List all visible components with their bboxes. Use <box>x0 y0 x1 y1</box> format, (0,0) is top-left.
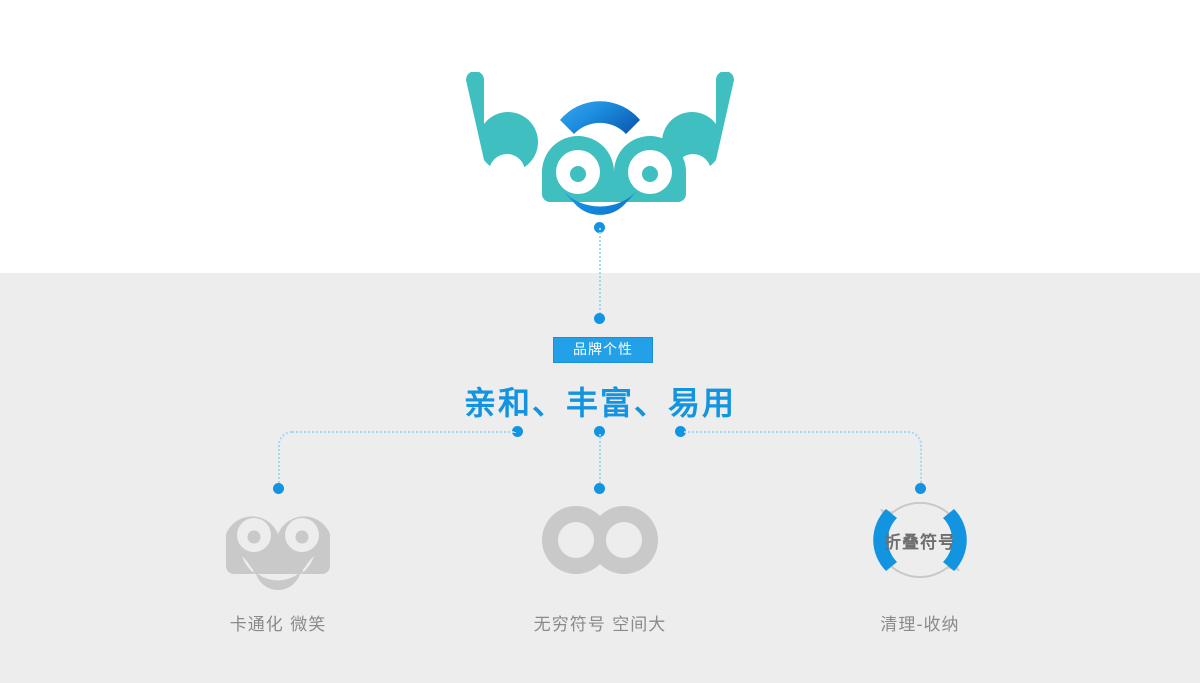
boad-logo-svg <box>460 72 740 217</box>
connector-left-elbow <box>278 431 516 487</box>
logo-letter-b-counter <box>489 154 525 190</box>
feature-infinity-space: 无穷符号 空间大 <box>480 490 720 635</box>
brand-personality-badge[interactable]: 品牌个性 <box>553 337 653 363</box>
logo-arc-top-icon <box>560 101 640 134</box>
logo-eye-right-pupil <box>642 166 658 182</box>
connector-right-elbow <box>684 431 922 487</box>
connector-logo-to-badge <box>599 228 601 318</box>
feature-3-art: 折叠符号 <box>800 490 1040 590</box>
face-smile-icon <box>218 490 338 590</box>
boad-logo <box>460 72 740 217</box>
page-title: 亲和、丰富、易用 <box>0 378 1200 424</box>
feature-2-caption: 无穷符号 空间大 <box>480 610 720 635</box>
feature-1-caption: 卡通化 微笑 <box>158 610 398 635</box>
brand-personality-poster: 品牌个性 亲和、丰富、易用 卡通化 微笑 <box>0 0 1200 683</box>
feature-clean-organize: 折叠符号 清理-收纳 <box>800 490 1040 635</box>
feature-cartoon-smile: 卡通化 微笑 <box>158 490 398 635</box>
logo-eye-left-pupil <box>570 166 586 182</box>
connector-dot-badge-top <box>594 313 605 324</box>
feature-3-caption: 清理-收纳 <box>800 610 1040 635</box>
fold-brackets-refresh-icon <box>860 485 980 595</box>
connector-center-vertical <box>599 434 601 486</box>
infinity-icon <box>540 490 660 590</box>
feature-1-art <box>158 490 398 590</box>
feature-2-art <box>480 490 720 590</box>
